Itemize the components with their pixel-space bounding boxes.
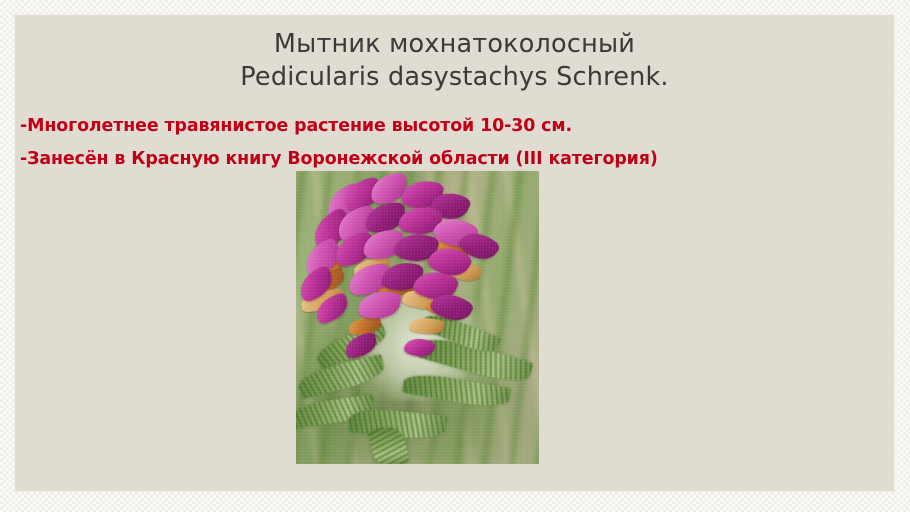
slide-outer-frame: Мытник мохнатоколосный Pedicularis dasys… — [0, 0, 910, 512]
bullet-item-height: -Многолетнее травянистое растение высото… — [20, 110, 890, 143]
bullet-list: -Многолетнее травянистое растение высото… — [20, 110, 890, 176]
slide-title: Мытник мохнатоколосный Pedicularis dasys… — [14, 28, 895, 94]
title-line-latin: Pedicularis dasystachys Schrenk. — [14, 61, 895, 94]
title-line-russian: Мытник мохнатоколосный — [14, 28, 895, 61]
plant-photo — [296, 171, 539, 464]
